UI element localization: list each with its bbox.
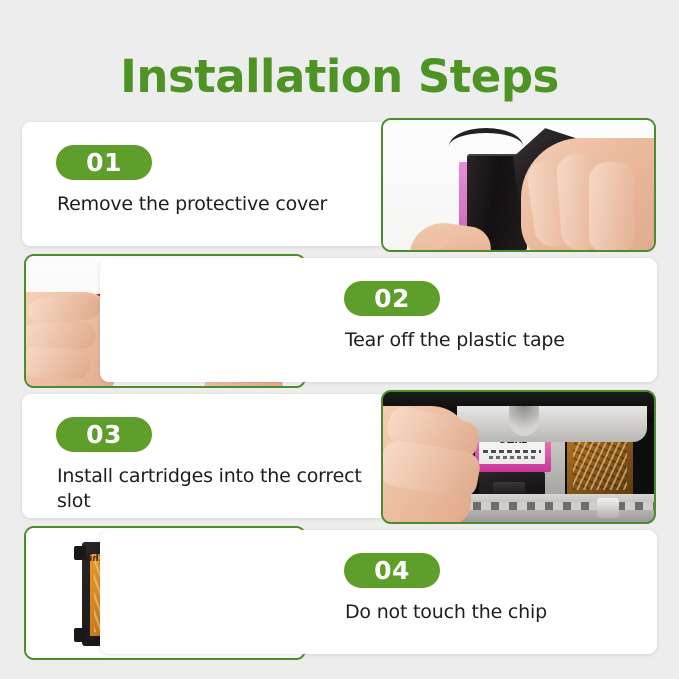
- step-text-02: Tear off the plastic tape: [345, 328, 657, 353]
- step-text-03: Install cartridges into the correct slot: [57, 464, 397, 514]
- cartridge-label-line-2: [489, 456, 535, 459]
- printer-contact-chip: [567, 434, 633, 496]
- step-text-01: Remove the protective cover: [57, 192, 397, 217]
- step-photo-frame-03: 62XL: [381, 390, 656, 524]
- finger: [26, 346, 91, 380]
- page-title: Installation Steps: [0, 50, 679, 104]
- step-number-badge-04: 04: [344, 553, 440, 588]
- step-row-04: Don't Touch the Chip 04 Do not touch the…: [0, 526, 679, 662]
- printer-carriage: [457, 406, 647, 442]
- cartridge-label-line-1: [483, 450, 541, 453]
- step-row-02: 02 Tear off the plastic tape: [0, 254, 679, 390]
- step-row-01: 01 Remove the protective cover: [0, 118, 679, 254]
- step-photo-frame-01: [381, 118, 656, 252]
- step-number-badge-01: 01: [56, 145, 152, 180]
- cartridge-into-printer-slot-photo: 62XL: [383, 392, 654, 522]
- step-card-02: 02 Tear off the plastic tape: [100, 258, 657, 382]
- protective-cover-tab: [449, 128, 523, 150]
- step-card-04: 04 Do not touch the chip: [100, 530, 657, 654]
- step-number-badge-03: 03: [56, 417, 152, 452]
- cartridge-tab: [74, 628, 86, 642]
- hand-removing-protective-cover-photo: [383, 120, 654, 250]
- printer-clip: [597, 498, 619, 518]
- step-number-badge-02: 02: [344, 281, 440, 316]
- installation-steps-list: 01 Remove the protective cover: [0, 118, 679, 662]
- step-row-03: 03 Install cartridges into the correct s…: [0, 390, 679, 526]
- finger: [589, 162, 635, 250]
- step-text-04: Do not touch the chip: [345, 600, 657, 625]
